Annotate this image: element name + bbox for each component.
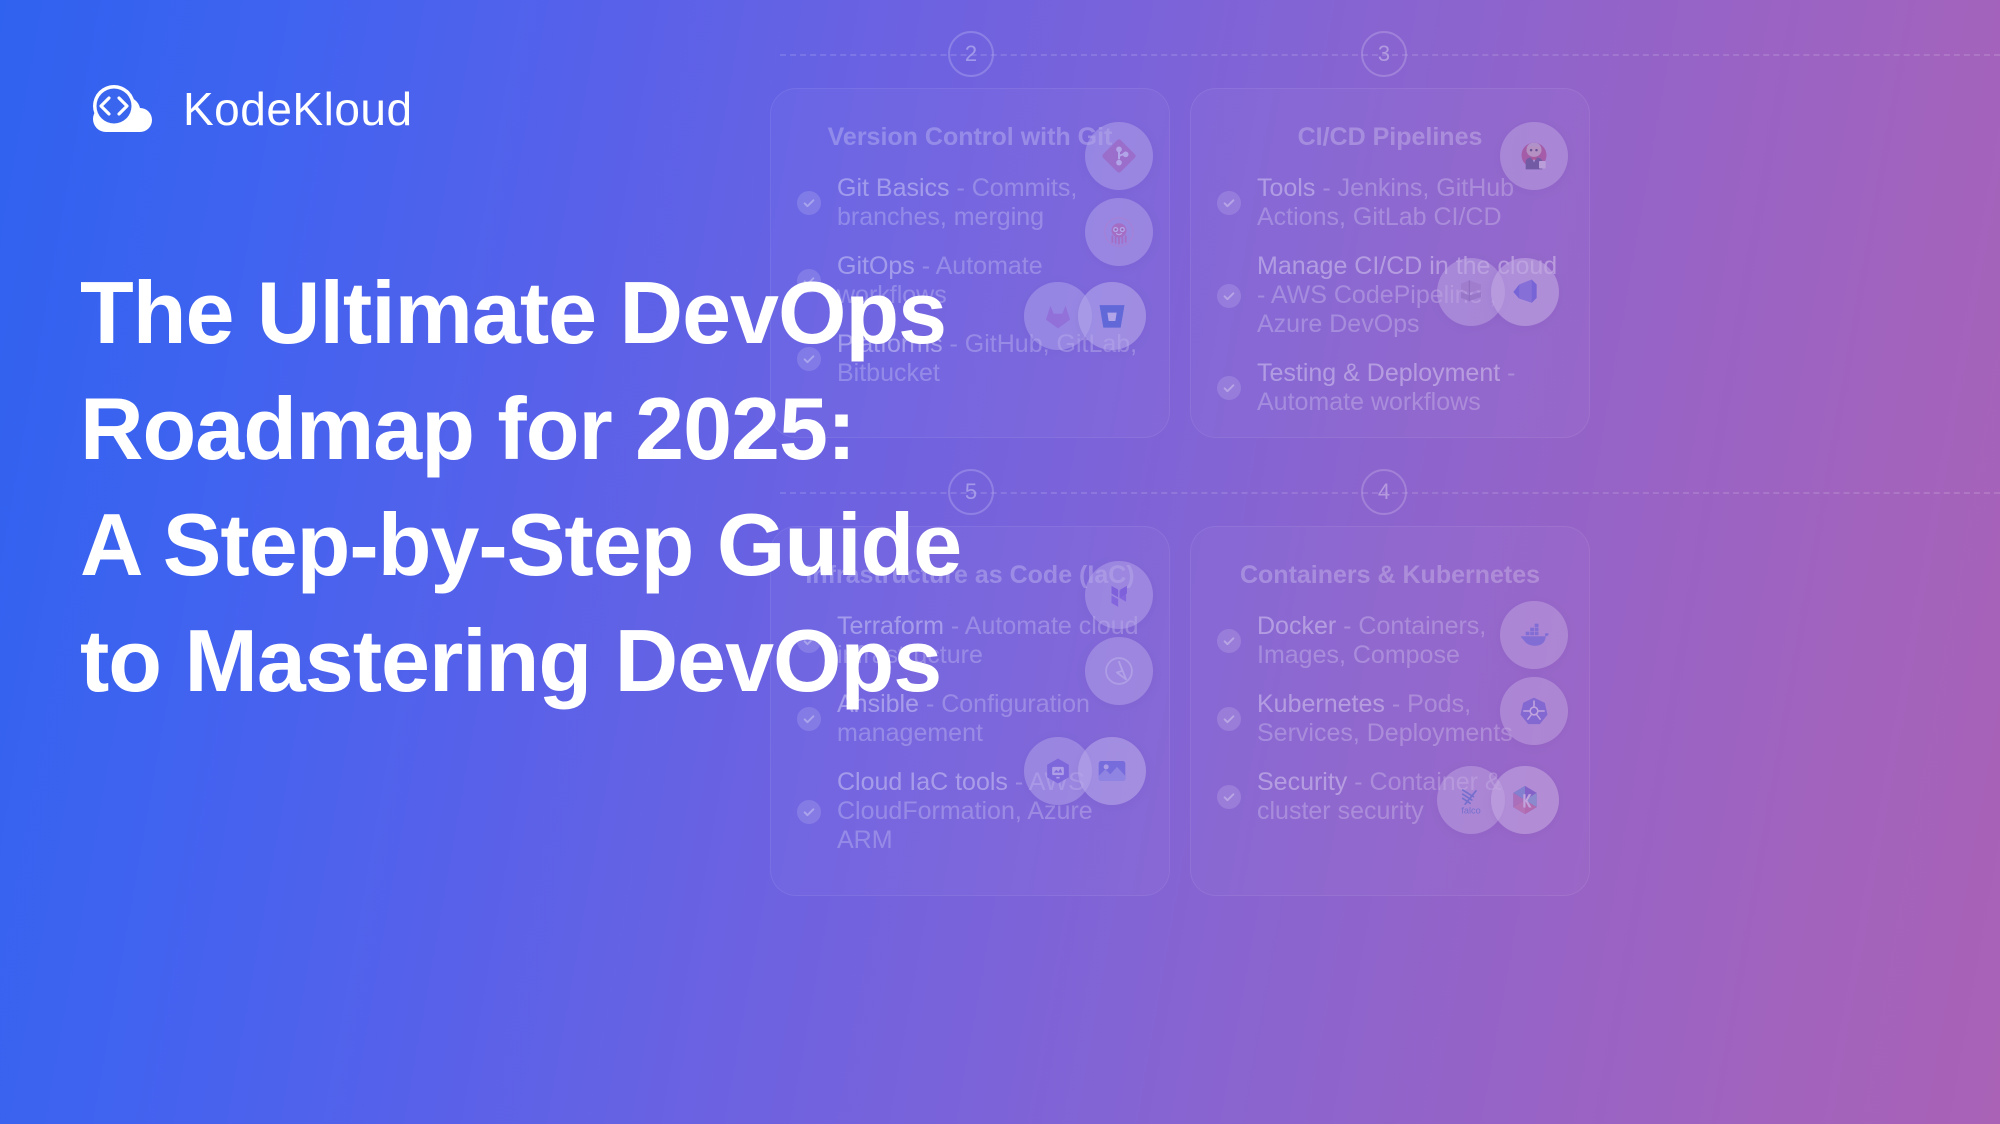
checklist-label: Git Basics — [837, 174, 950, 202]
check-icon — [1217, 707, 1241, 731]
checklist-text: Testing & Deployment - Automate workflow… — [1257, 359, 1563, 417]
tool-icons-terraform — [1085, 561, 1153, 629]
check-icon — [1217, 191, 1241, 215]
brand-name: KodeKloud — [183, 82, 413, 136]
tool-icons-docker — [1500, 601, 1568, 669]
headline-line-4: to Mastering DevOps — [80, 603, 1080, 719]
checklist-label: Tools — [1257, 174, 1315, 202]
check-icon — [1217, 376, 1241, 400]
tool-icons-kubernetes — [1500, 677, 1568, 745]
check-icon — [797, 191, 821, 215]
card-title: Containers & Kubernetes — [1217, 561, 1563, 590]
tool-icons-security: falco — [1437, 766, 1559, 834]
brand-logo[interactable]: KodeKloud — [80, 78, 413, 140]
headline-line-2: Roadmap for 2025: — [80, 371, 1080, 487]
bitbucket-icon — [1078, 282, 1146, 350]
svg-text:falco: falco — [1461, 805, 1480, 815]
checklist-label: Cloud IaC tools — [837, 768, 1008, 796]
kyverno-icon — [1491, 766, 1559, 834]
check-icon — [797, 800, 821, 824]
check-icon — [1217, 629, 1241, 653]
tool-icons-ansible — [1085, 637, 1153, 705]
tool-icons-cloud-cicd — [1437, 258, 1559, 326]
headline-line-1: The Ultimate DevOps — [80, 255, 1080, 371]
step-node-4: 4 — [1361, 469, 1407, 515]
azure-devops-icon — [1491, 258, 1559, 326]
cloud-code-icon — [80, 78, 165, 140]
headline-line-3: A Step-by-Step Guide — [80, 487, 1080, 603]
tool-icons-cicd-tools — [1500, 122, 1568, 190]
checklist-label: Kubernetes — [1257, 690, 1385, 718]
git-icon — [1085, 122, 1153, 190]
checklist-label: Security — [1257, 768, 1347, 796]
argo-cd-icon — [1085, 198, 1153, 266]
ansible-icon — [1085, 637, 1153, 705]
checklist-label: Docker — [1257, 612, 1336, 640]
aws-cloudformation-icon — [1078, 737, 1146, 805]
step-node-3: 3 — [1361, 31, 1407, 77]
page-title: The Ultimate DevOps Roadmap for 2025: A … — [80, 255, 1080, 720]
tool-icons-version-control — [1085, 122, 1153, 190]
jenkins-icon — [1500, 122, 1568, 190]
checklist-label: Testing & Deployment — [1257, 359, 1500, 387]
checklist-item: Testing & Deployment - Automate workflow… — [1217, 359, 1563, 417]
check-icon — [1217, 284, 1241, 308]
tool-icons-gitops — [1085, 198, 1153, 266]
kubernetes-icon — [1500, 677, 1568, 745]
terraform-icon — [1085, 561, 1153, 629]
check-icon — [1217, 785, 1241, 809]
step-node-2: 2 — [948, 31, 994, 77]
docker-icon — [1500, 601, 1568, 669]
tool-icons-cloud-iac — [1024, 737, 1146, 805]
